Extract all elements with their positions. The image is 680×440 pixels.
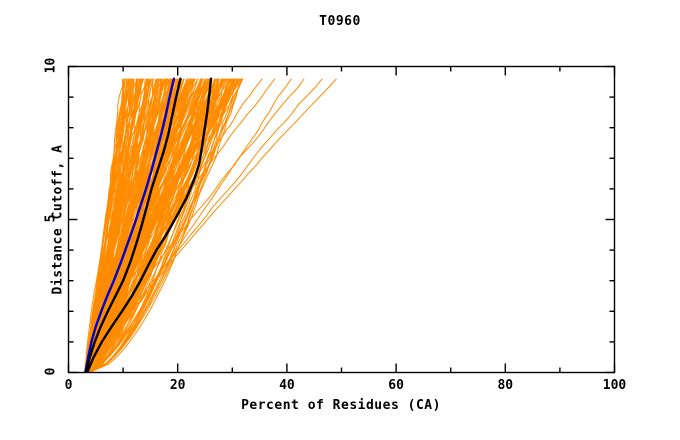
plot-canvas <box>0 0 680 440</box>
y-tick-label: 10 <box>44 52 59 78</box>
x-tick-label: 80 <box>485 378 525 393</box>
x-tick-label: 20 <box>158 378 198 393</box>
y-tick-label: 5 <box>44 205 59 231</box>
chart-page: T0960 Percent of Residues (CA) Distance … <box>0 0 680 440</box>
ensemble-curves <box>84 79 336 373</box>
x-tick-label: 100 <box>595 378 635 393</box>
x-axis-label: Percent of Residues (CA) <box>68 398 614 413</box>
y-tick-label: 0 <box>44 358 59 384</box>
x-tick-label: 40 <box>267 378 307 393</box>
x-tick-label: 60 <box>376 378 416 393</box>
